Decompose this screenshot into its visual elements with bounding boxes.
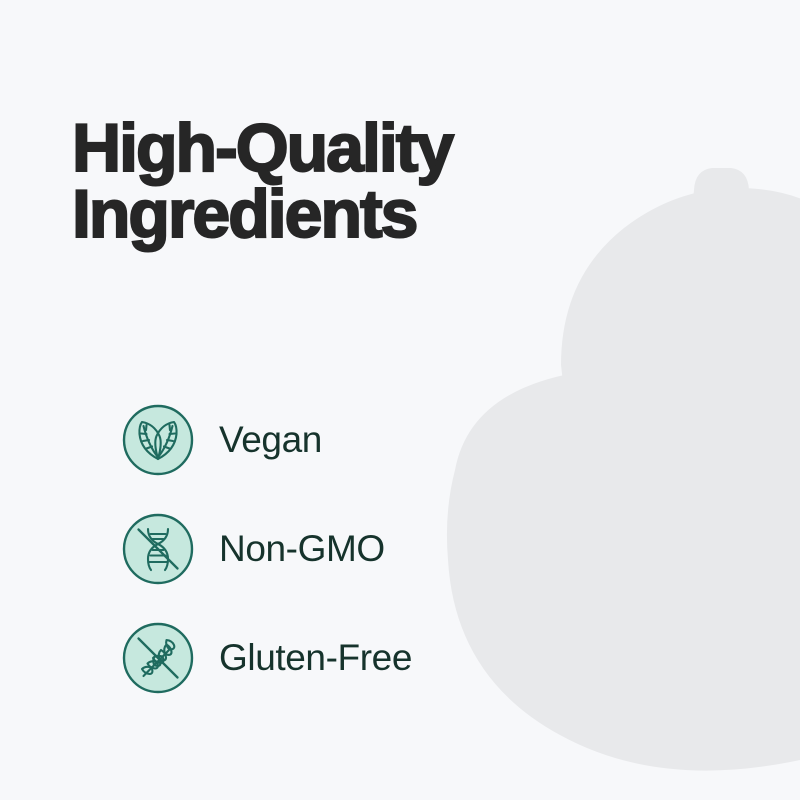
list-item: Non-GMO: [121, 512, 412, 586]
feature-label: Gluten-Free: [219, 637, 412, 679]
vegan-badge: [121, 403, 195, 477]
dome-knob-icon: [690, 168, 753, 232]
ingredients-poster: High-Quality Ingredients: [0, 0, 800, 800]
list-item: Vegan: [121, 403, 412, 477]
non-gmo-badge: [121, 512, 195, 586]
feature-label: Vegan: [219, 419, 322, 461]
gluten-free-badge: [121, 621, 195, 695]
tray-blob-icon: [447, 367, 800, 770]
list-item: Gluten-Free: [121, 621, 412, 695]
page-title: High-Quality Ingredients: [72, 116, 612, 248]
feature-label: Non-GMO: [219, 528, 385, 570]
feature-list: Vegan: [121, 403, 412, 695]
